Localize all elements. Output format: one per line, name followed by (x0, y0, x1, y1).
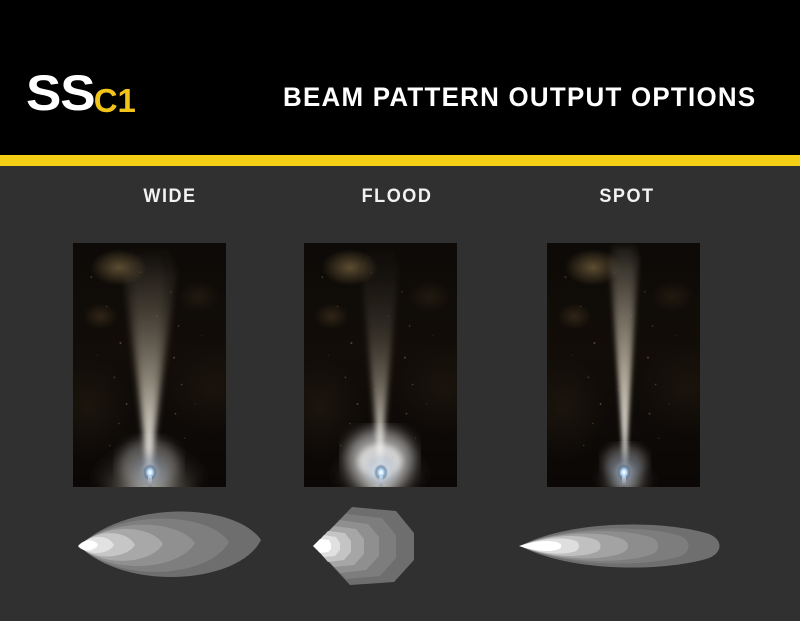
beam-diagram-spot (510, 500, 740, 595)
beam-diagram-wide (61, 500, 291, 595)
brand-logo-suffix: C1 (94, 84, 136, 117)
column-wide: WIDE (55, 166, 285, 621)
beam-photo-flood (304, 243, 457, 487)
brand-logo: SS C1 (26, 68, 136, 118)
column-label-flood: FLOOD (288, 186, 507, 208)
light-stem-flood (379, 476, 383, 487)
column-flood: FLOOD (282, 166, 512, 621)
light-stem-spot (622, 476, 626, 487)
column-spot: SPOT (512, 166, 742, 621)
page-title: BEAM PATTERN OUTPUT OPTIONS (283, 82, 756, 113)
column-label-wide: WIDE (61, 186, 280, 208)
beam-photo-spot (547, 243, 700, 487)
brand-logo-primary: SS (26, 68, 95, 118)
beam-diagram-flood (300, 500, 530, 595)
accent-divider (0, 155, 800, 166)
light-stem-wide (148, 476, 152, 487)
header-bar: SS C1 BEAM PATTERN OUTPUT OPTIONS (0, 0, 800, 155)
beam-pattern-infographic: SS C1 BEAM PATTERN OUTPUT OPTIONS WIDE (0, 0, 800, 621)
column-label-spot: SPOT (518, 186, 737, 208)
beam-photo-wide (73, 243, 226, 487)
columns-stage: WIDE (0, 166, 800, 621)
